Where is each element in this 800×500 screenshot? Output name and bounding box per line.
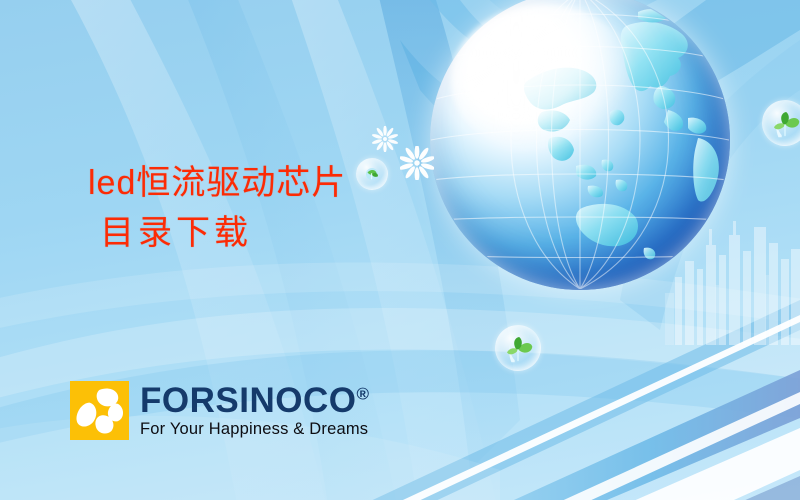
bubble-sprout-right [762, 100, 800, 146]
logo-wordmark-text: FORSINOCO [140, 381, 356, 420]
flower-starburst-2 [400, 146, 434, 180]
flower-starburst-1 [372, 126, 398, 152]
bubble-globe-small [356, 158, 388, 190]
headline-line-2: 目录下载 [100, 212, 346, 256]
forsinoco-logo[interactable]: FORSINOCO® For Your Happiness & Dreams [70, 381, 369, 440]
globe-rim [430, 0, 730, 290]
logo-text-block: FORSINOCO® For Your Happiness & Dreams [140, 383, 369, 438]
logo-wordmark: FORSINOCO® [140, 383, 369, 418]
headline-text: led恒流驱动芯片 目录下载 [88, 162, 346, 255]
headline-line-1: led恒流驱动芯片 [88, 162, 346, 206]
bubble-globe-motif [357, 159, 387, 189]
bubble-sprout-left [495, 325, 541, 371]
forsinoco-petal-mark [70, 381, 129, 440]
green-sprout-icon [496, 326, 540, 370]
green-sprout-icon [763, 101, 800, 145]
logo-tagline: For Your Happiness & Dreams [140, 421, 369, 438]
registered-trademark-icon: ® [356, 385, 369, 404]
promo-banner: led恒流驱动芯片 目录下载 FORSINOCO® For Your Happi… [0, 0, 800, 500]
earth-globe [430, 0, 730, 290]
